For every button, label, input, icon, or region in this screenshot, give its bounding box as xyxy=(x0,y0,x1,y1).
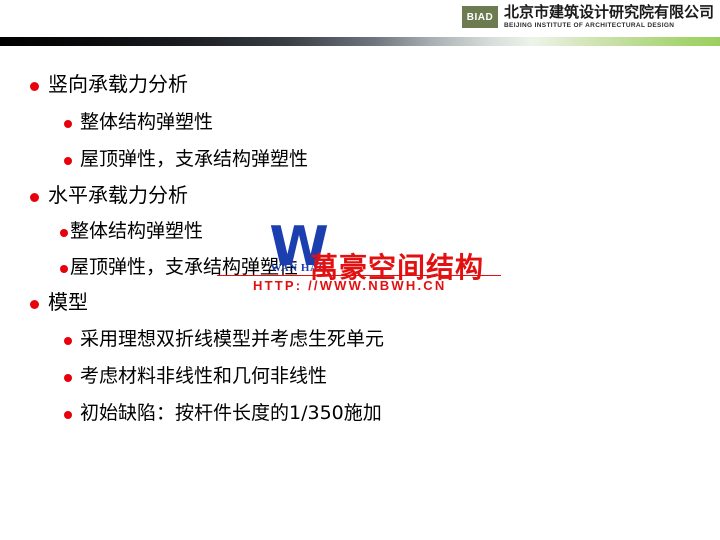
list-item: 考虑材料非线性和几何非线性 xyxy=(64,361,327,388)
biad-logo: BIAD 北京市建筑设计研究院有限公司 BEIJING INSTITUTE OF… xyxy=(462,5,714,30)
list-item-label: 水平承载力分析 xyxy=(48,179,188,208)
bullet-dot-icon xyxy=(64,120,72,128)
company-name-en: BEIJING INSTITUTE OF ARCHITECTURAL DESIG… xyxy=(504,23,714,30)
list-item: 屋顶弹性，支承结构弹塑性 xyxy=(64,144,308,171)
header-gradient-divider xyxy=(0,37,720,46)
bullet-dot-icon xyxy=(64,374,72,382)
bullet-dot-icon xyxy=(60,265,68,273)
bullet-dot-icon xyxy=(60,229,68,237)
list-item: 屋顶弹性，支承结构弹塑性 xyxy=(60,252,298,279)
list-item-label: 竖向承载力分析 xyxy=(48,68,188,97)
list-item-label: 整体结构弹塑性 xyxy=(80,107,213,134)
bullet-dot-icon xyxy=(64,411,72,419)
list-item-label: 采用理想双折线模型并考虑生死单元 xyxy=(80,324,384,351)
bullet-dot-icon xyxy=(30,193,39,202)
list-item: 初始缺陷：按杆件长度的1/350施加 xyxy=(64,398,382,425)
list-item-label: 屋顶弹性，支承结构弹塑性 xyxy=(70,252,298,279)
bullet-dot-icon xyxy=(64,157,72,165)
bullet-dot-icon xyxy=(30,300,39,309)
list-item: 竖向承载力分析 xyxy=(30,68,188,97)
list-item-label: 屋顶弹性，支承结构弹塑性 xyxy=(80,144,308,171)
brand-text-block: 北京市建筑设计研究院有限公司 BEIJING INSTITUTE OF ARCH… xyxy=(504,5,714,30)
company-name-cn: 北京市建筑设计研究院有限公司 xyxy=(504,5,714,20)
list-item: 模型 xyxy=(30,286,88,315)
list-item-label: 考虑材料非线性和几何非线性 xyxy=(80,361,327,388)
slide-header: BIAD 北京市建筑设计研究院有限公司 BEIJING INSTITUTE OF… xyxy=(0,0,720,37)
bullet-dot-icon xyxy=(64,337,72,345)
list-item: 采用理想双折线模型并考虑生死单元 xyxy=(64,324,384,351)
biad-logo-mark: BIAD xyxy=(462,6,498,28)
list-item: 整体结构弹塑性 xyxy=(64,107,213,134)
list-item: 整体结构弹塑性 xyxy=(60,216,203,243)
slide-content: 竖向承载力分析 整体结构弹塑性 屋顶弹性，支承结构弹塑性 水平承载力分析 整体结… xyxy=(0,46,720,540)
bullet-dot-icon xyxy=(30,82,39,91)
list-item-label: 模型 xyxy=(48,286,88,315)
list-item-label: 整体结构弹塑性 xyxy=(70,216,203,243)
list-item: 水平承载力分析 xyxy=(30,179,188,208)
list-item-label: 初始缺陷：按杆件长度的1/350施加 xyxy=(80,398,382,425)
